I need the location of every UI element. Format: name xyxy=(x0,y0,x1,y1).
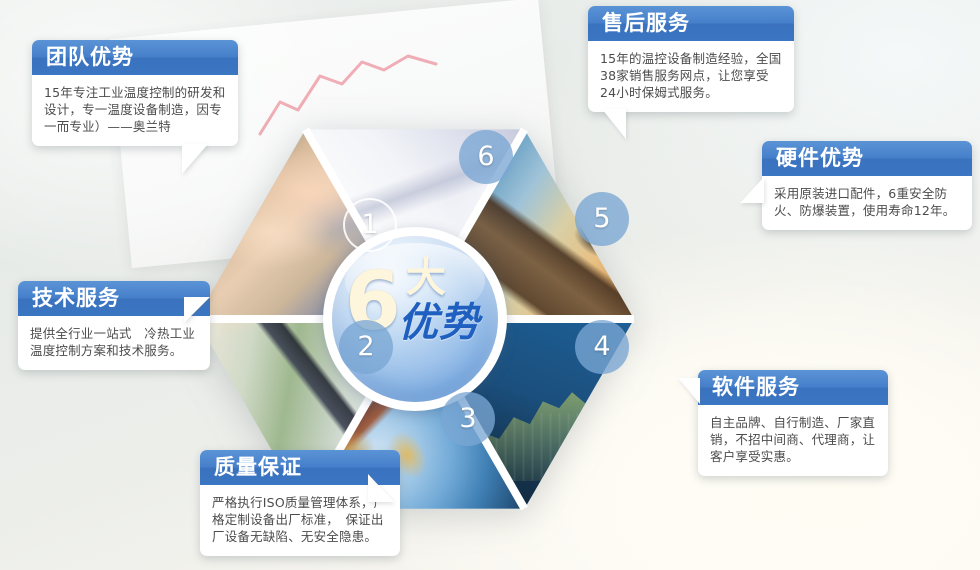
marker-4[interactable]: 4 xyxy=(575,320,629,374)
marker-1[interactable]: 1 xyxy=(343,198,397,252)
callout-card-software-service[interactable]: 软件服务 自主品牌、自行制造、厂家直销，不招中间商、代理商，让客户享受实惠。 xyxy=(698,370,888,476)
callout-tail-software-service xyxy=(678,378,700,404)
hub-big-word: 大 xyxy=(406,258,446,298)
callout-title-after-sales: 售后服务 xyxy=(588,6,794,41)
callout-card-team[interactable]: 团队优势 15年专注工业温度控制的研发和设计，专一温度设备制造，因专一而专业）—… xyxy=(32,40,238,146)
callout-title-tech-service: 技术服务 xyxy=(18,281,210,316)
callout-card-after-sales[interactable]: 售后服务 15年的温控设备制造经验，全国38家销售服务网点，让您享受24小时保姆… xyxy=(588,6,794,112)
callout-tail-team xyxy=(182,144,208,174)
callout-title-team: 团队优势 xyxy=(32,40,238,75)
callout-body-after-sales: 15年的温控设备制造经验，全国38家销售服务网点，让您享受24小时保姆式服务。 xyxy=(588,41,794,112)
callout-body-tech-service: 提供全行业一站式 冷热工业温度控制方案和技术服务。 xyxy=(18,316,210,370)
center-hub-disc: 6 大 优势 xyxy=(332,236,498,402)
callout-body-team: 15年专注工业温度控制的研发和设计，专一温度设备制造，因专一而专业）——奥兰特 xyxy=(32,75,238,146)
marker-2[interactable]: 2 xyxy=(339,320,393,374)
callout-body-software-service: 自主品牌、自行制造、厂家直销，不招中间商、代理商，让客户享受实惠。 xyxy=(698,405,888,476)
callout-card-quality[interactable]: 质量保证 严格执行ISO质量管理体系，严格定制设备出厂标准， 保证出厂设备无缺陷… xyxy=(200,450,400,556)
callout-body-hardware: 采用原装进口配件，6重安全防火、防爆装置，使用寿命12年。 xyxy=(762,176,972,230)
center-hub: 6 大 优势 xyxy=(323,227,507,411)
callout-tail-hardware xyxy=(740,177,764,203)
callout-tail-quality xyxy=(368,474,394,502)
callout-title-software-service: 软件服务 xyxy=(698,370,888,405)
callout-card-tech-service[interactable]: 技术服务 提供全行业一站式 冷热工业温度控制方案和技术服务。 xyxy=(18,281,210,370)
callout-tail-tech-service xyxy=(184,297,210,323)
callout-title-hardware: 硬件优势 xyxy=(762,141,972,176)
infographic-stage: 6 大 优势 1 2 3 4 5 6 团队优势 15年专注工业温度控制的研发和设… xyxy=(0,0,980,570)
callout-card-hardware[interactable]: 硬件优势 采用原装进口配件，6重安全防火、防爆装置，使用寿命12年。 xyxy=(762,141,972,230)
hub-script-word: 优势 xyxy=(398,302,480,344)
marker-6[interactable]: 6 xyxy=(459,130,513,184)
marker-5[interactable]: 5 xyxy=(575,192,629,246)
marker-3[interactable]: 3 xyxy=(441,392,495,446)
callout-tail-after-sales xyxy=(602,109,626,139)
